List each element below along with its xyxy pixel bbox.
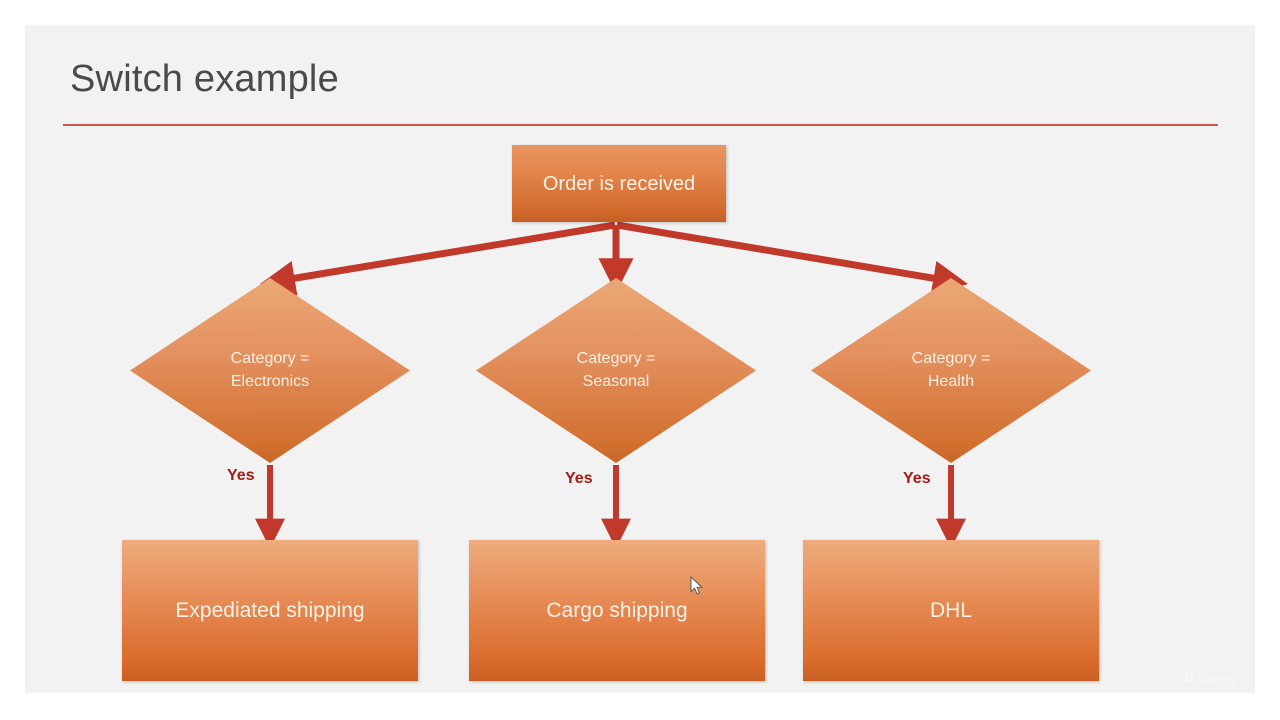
diamond-shape <box>811 278 1091 463</box>
edge-label-yes-health: Yes <box>903 470 931 488</box>
udemy-watermark: ű udemy <box>1184 669 1237 687</box>
decision-node-health[interactable]: Category = Health <box>811 278 1091 463</box>
result-node-dhl[interactable]: DHL <box>803 540 1099 681</box>
flowchart-diagram: Order is received Category = Electronics… <box>25 25 1255 693</box>
decision-node-seasonal[interactable]: Category = Seasonal <box>476 278 756 463</box>
start-node-order-received[interactable]: Order is received <box>512 145 726 222</box>
edge-label-yes-electronics: Yes <box>227 467 255 485</box>
udemy-watermark-label: udemy <box>1197 671 1237 686</box>
screenshot-stage: Switch example <box>0 0 1280 720</box>
udemy-logo-icon: ű <box>1184 669 1193 687</box>
presentation-slide: Switch example <box>25 25 1255 693</box>
result-node-expediated-shipping[interactable]: Expediated shipping <box>122 540 418 681</box>
result-node-cargo-shipping[interactable]: Cargo shipping <box>469 540 765 681</box>
diamond-shape <box>476 278 756 463</box>
edge-label-yes-seasonal: Yes <box>565 470 593 488</box>
decision-node-electronics[interactable]: Category = Electronics <box>130 278 410 463</box>
diamond-shape <box>130 278 410 463</box>
